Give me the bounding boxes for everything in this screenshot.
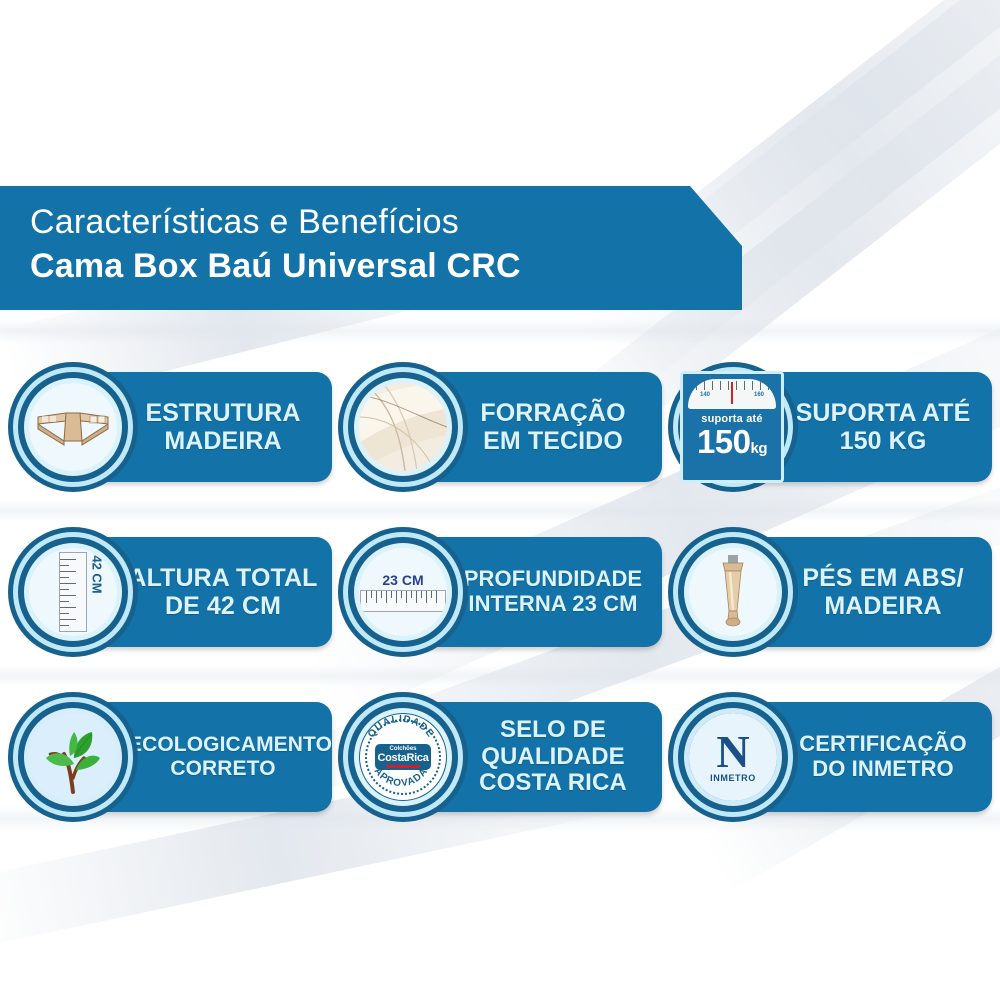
feature-label-line1: PÉS EM ABS/: [788, 564, 978, 592]
feature-medallion: N INMETRO: [668, 692, 798, 822]
feature-medallion: [338, 362, 468, 492]
quality-seal-icon: QUALIDADE APROVADA Colchões CostaRica: [359, 713, 447, 801]
feature-row: ESTRUTURA MADEIRA: [0, 362, 1000, 527]
feature-certificacao-inmetro[interactable]: CERTIFICAÇÃO DO INMETRO N INMETRO: [668, 692, 998, 822]
feature-medallion: [8, 362, 138, 492]
feature-label-line1: ESTRUTURA: [128, 399, 318, 427]
feature-ecologicamente-correto[interactable]: ECOLOGICAMENTO CORRETO: [8, 692, 338, 822]
feature-label-line2: INTERNA 23 CM: [458, 592, 648, 617]
seal-brand: CostaRica: [377, 752, 428, 764]
feature-label-line1: SELO DE: [458, 717, 648, 744]
inmetro-word: INMETRO: [710, 773, 756, 783]
feature-estrutura-madeira[interactable]: ESTRUTURA MADEIRA: [8, 362, 338, 492]
scale-value: 150: [697, 423, 751, 460]
sapling-plant-icon: [34, 718, 112, 796]
fabric-swatch-icon: [359, 383, 447, 471]
feature-label-line2: DO INMETRO: [788, 757, 978, 782]
scale-dial: 140 160: [688, 379, 776, 409]
feature-label-line1: CERTIFICAÇÃO: [788, 732, 978, 757]
feature-label-line3: COSTA RICA: [458, 770, 648, 797]
feature-label-line1: ECOLOGICAMENTO: [128, 733, 318, 757]
horizontal-ruler-icon: 23 CM: [360, 572, 446, 612]
features-grid: ESTRUTURA MADEIRA: [0, 362, 1000, 857]
banner-title: Cama Box Baú Universal CRC: [30, 244, 521, 288]
feature-medallion: [668, 527, 798, 657]
ruler-measure-label: 42 CM: [89, 555, 104, 593]
furniture-leg-icon: [711, 553, 755, 631]
feature-selo-qualidade-costa-rica[interactable]: SELO DE QUALIDADE COSTA RICA QUALIDADE A…: [338, 692, 668, 822]
header-banner: Características e Benefícios Cama Box Ba…: [0, 186, 742, 310]
feature-forracao-tecido[interactable]: FORRAÇÃO EM TECIDO: [338, 362, 668, 492]
feature-medallion: QUALIDADE APROVADA Colchões CostaRica: [338, 692, 468, 822]
feature-altura-42cm[interactable]: ALTURA TOTAL DE 42 CM 42 CM: [8, 527, 338, 657]
feature-label-line2: QUALIDADE: [458, 744, 648, 771]
feature-suporta-150kg[interactable]: SUPORTA ATÉ 150 KG 140 160: [668, 362, 998, 492]
feature-label-line2: EM TECIDO: [458, 427, 648, 455]
feature-label-line1: SUPORTA ATÉ: [788, 399, 978, 427]
vertical-ruler-icon: 42 CM: [59, 552, 87, 632]
weight-scale-icon: 140 160 suporta até 150kg: [669, 364, 795, 490]
feature-label-line2: 150 KG: [788, 427, 978, 455]
dial-number-left: 140: [700, 392, 710, 398]
feature-row: ECOLOGICAMENTO CORRETO: [0, 692, 1000, 857]
feature-row: ALTURA TOTAL DE 42 CM 42 CM: [0, 527, 1000, 692]
feature-label-line2: DE 42 CM: [128, 592, 318, 620]
feature-medallion: [8, 692, 138, 822]
scale-unit: kg: [751, 440, 768, 457]
feature-pes-abs-madeira[interactable]: PÉS EM ABS/ MADEIRA: [668, 527, 998, 657]
feature-label-line1: ALTURA TOTAL: [128, 564, 318, 592]
feature-label-line1: FORRAÇÃO: [458, 399, 648, 427]
feature-label-line2: CORRETO: [128, 757, 318, 781]
feature-medallion: 23 CM: [338, 527, 468, 657]
dial-number-right: 160: [754, 392, 764, 398]
feature-label-line1: PROFUNDIDADE: [458, 567, 648, 592]
feature-medallion: 42 CM: [8, 527, 138, 657]
ruler-measure-label: 23 CM: [382, 572, 423, 588]
inmetro-letter: N: [716, 732, 749, 772]
feature-label-line2: MADEIRA: [788, 592, 978, 620]
banner-subtitle: Características e Benefícios: [30, 200, 521, 244]
wood-frame-icon: [36, 407, 110, 447]
feature-label-line2: MADEIRA: [128, 427, 318, 455]
inmetro-logo-icon: N INMETRO: [689, 713, 777, 801]
feature-profundidade-23cm[interactable]: PROFUNDIDADE INTERNA 23 CM 23 CM: [338, 527, 668, 657]
